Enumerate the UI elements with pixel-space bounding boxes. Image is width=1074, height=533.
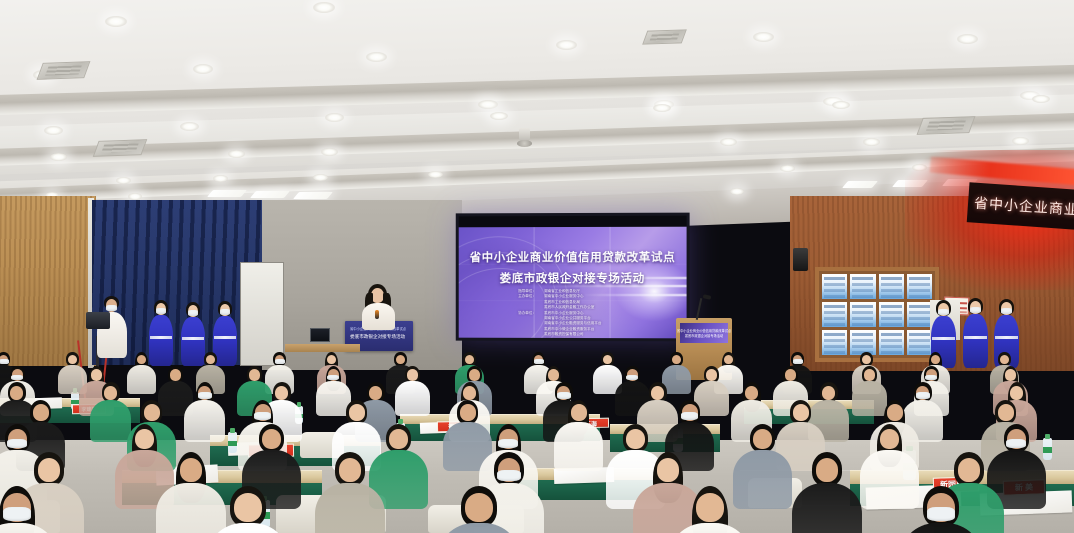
conference-hall-photo: 省中小企业商业价值 省中小企业商业价值信用贷款改革试点 娄底市政银企对接专场 bbox=[0, 0, 1074, 533]
head bbox=[822, 386, 835, 400]
face-mask bbox=[0, 359, 9, 364]
face-mask bbox=[327, 375, 339, 381]
head bbox=[696, 493, 723, 521]
video-camera-icon bbox=[86, 312, 110, 329]
ceiling-air-vent bbox=[917, 116, 976, 135]
poster-panel bbox=[879, 302, 904, 327]
ceiling-downlight bbox=[428, 171, 443, 178]
torso bbox=[437, 523, 521, 533]
ceiling-downlight bbox=[556, 40, 577, 50]
face-mask bbox=[156, 308, 166, 314]
ceiling-downlight bbox=[193, 64, 213, 74]
ceiling-downlight bbox=[50, 153, 67, 161]
stage-table bbox=[285, 344, 360, 352]
head bbox=[180, 458, 203, 482]
led-wall-subtext: 指导单位：湖南省工业和信息化厅主办单位：湖南省中小企业服务中心娄底市工业和信息化… bbox=[518, 289, 648, 338]
ceiling-downlight bbox=[105, 16, 127, 27]
head bbox=[1010, 386, 1023, 400]
ceiling-downlight bbox=[128, 193, 142, 200]
led-wall-subtext-row: 娄底市信用信息服务中心 bbox=[518, 337, 648, 338]
head bbox=[249, 369, 260, 381]
torso bbox=[315, 483, 385, 533]
audience-member bbox=[668, 486, 752, 533]
face-mask bbox=[681, 412, 698, 420]
head bbox=[571, 404, 587, 421]
head bbox=[104, 386, 117, 400]
head bbox=[958, 458, 981, 482]
head bbox=[548, 369, 559, 381]
head bbox=[10, 386, 23, 400]
microphone-icon bbox=[703, 294, 712, 300]
poster-panel bbox=[907, 274, 932, 299]
led-wall-content: 省中小企业商业价值信用贷款改革试点 娄底市政银企对接专场活动 指导单位：湖南省工… bbox=[459, 227, 687, 339]
face-mask bbox=[557, 392, 571, 399]
face-mask bbox=[11, 375, 23, 381]
speaker-presenter bbox=[356, 284, 400, 330]
head bbox=[887, 404, 903, 421]
led-wall-title-block: 省中小企业商业价值信用贷款改革试点 娄底市政银企对接专场活动 bbox=[459, 249, 687, 286]
ceiling-downlight bbox=[325, 113, 344, 122]
torso bbox=[554, 422, 603, 471]
side-door[interactable] bbox=[240, 262, 284, 366]
face-mask bbox=[793, 359, 803, 364]
ceiling-downlight bbox=[653, 104, 671, 112]
ceiling-downlight bbox=[321, 148, 338, 156]
dress-belt bbox=[182, 337, 204, 340]
ceiling-downlight bbox=[213, 175, 228, 182]
face-mask bbox=[927, 507, 956, 521]
red-banner: 省中小企业商业价值 bbox=[967, 182, 1074, 230]
led-video-wall[interactable]: 省中小企业商业价值信用贷款改革试点 娄底市政银企对接专场活动 指导单位：湖南省工… bbox=[456, 213, 690, 342]
face-mask bbox=[498, 439, 518, 449]
face-mask bbox=[970, 307, 981, 313]
dress-belt bbox=[995, 336, 1018, 339]
head bbox=[389, 429, 408, 449]
stage-monitor bbox=[310, 328, 330, 342]
water-bottle bbox=[228, 432, 237, 453]
ceiling-downlight bbox=[863, 138, 880, 146]
audience-member bbox=[554, 400, 603, 473]
head bbox=[864, 369, 875, 381]
ceiling-strip-light bbox=[250, 191, 290, 198]
ceiling-strip-light bbox=[207, 190, 247, 197]
head bbox=[1005, 369, 1016, 381]
head bbox=[880, 429, 899, 449]
head bbox=[706, 369, 717, 381]
head bbox=[407, 369, 418, 381]
poster-panel bbox=[822, 274, 847, 299]
head bbox=[91, 369, 102, 381]
head bbox=[745, 386, 758, 400]
ceiling-downlight bbox=[180, 122, 199, 131]
ceiling-air-vent bbox=[93, 139, 148, 157]
ceiling-downlight bbox=[478, 100, 498, 109]
head bbox=[816, 458, 839, 482]
face-mask bbox=[938, 309, 949, 315]
face-mask bbox=[497, 470, 521, 481]
ceiling-downlight bbox=[366, 52, 387, 62]
dress-belt bbox=[964, 336, 987, 339]
face-mask bbox=[1001, 308, 1012, 314]
ceiling-strip-light bbox=[293, 192, 333, 199]
wall-speaker bbox=[793, 248, 808, 271]
head bbox=[339, 458, 362, 482]
podium-left-line-2: 娄底市政银企对接专场活动 bbox=[350, 334, 405, 340]
ceiling-downlight bbox=[780, 165, 795, 172]
head bbox=[38, 458, 61, 482]
ceiling-downlight bbox=[730, 188, 744, 195]
poster-panel bbox=[907, 302, 932, 327]
torso bbox=[668, 523, 752, 533]
head bbox=[465, 493, 492, 521]
dress bbox=[963, 314, 988, 368]
face-mask bbox=[925, 375, 937, 381]
led-wall-subtext-label bbox=[518, 337, 540, 338]
red-banner-text: 省中小企业商业价值 bbox=[973, 193, 1074, 222]
face-mask bbox=[220, 309, 230, 315]
ceiling-strip-light bbox=[842, 181, 878, 188]
podium-right-display: 省中小企业商业价值信用贷款改革试点 娄底市政银企对接专场活动 bbox=[680, 323, 728, 343]
podium-right-line-2: 娄底市政银企对接专场活动 bbox=[685, 333, 723, 338]
ceiling-air-vent bbox=[642, 29, 687, 44]
hostess-right-2 bbox=[962, 298, 989, 368]
face-mask bbox=[916, 392, 930, 399]
audience-member bbox=[206, 486, 290, 533]
handheld-microphone-icon bbox=[375, 310, 379, 319]
microphone-stem bbox=[696, 298, 703, 320]
face-mask bbox=[1006, 439, 1026, 449]
led-wall-title-line-1: 省中小企业商业价值信用贷款改革试点 bbox=[459, 249, 687, 265]
head bbox=[785, 369, 796, 381]
torso bbox=[899, 523, 983, 533]
head bbox=[460, 404, 476, 421]
ceiling-air-vent bbox=[37, 61, 91, 80]
ceiling-downlight bbox=[832, 101, 850, 109]
head bbox=[651, 386, 664, 400]
audience-member bbox=[315, 452, 385, 533]
audience-member bbox=[0, 486, 59, 533]
head bbox=[349, 404, 365, 421]
face-mask bbox=[275, 359, 285, 364]
ceiling-downlight bbox=[490, 112, 508, 120]
ceiling-downlight bbox=[753, 32, 774, 42]
face-mask bbox=[7, 439, 27, 449]
led-wall-subtext-value: 娄底市信用信息服务中心 bbox=[544, 338, 583, 339]
dress-belt bbox=[214, 336, 236, 339]
torso bbox=[184, 400, 225, 441]
head bbox=[170, 369, 181, 381]
dress-belt bbox=[150, 336, 172, 339]
ceiling-downlight bbox=[44, 126, 63, 135]
head bbox=[463, 386, 476, 400]
ceiling-downlight bbox=[1012, 137, 1029, 145]
face-mask bbox=[106, 305, 117, 311]
head bbox=[469, 369, 480, 381]
poster-panel bbox=[850, 302, 875, 327]
head bbox=[234, 493, 261, 521]
audience-member bbox=[437, 486, 521, 533]
ceiling-downlight bbox=[116, 177, 131, 184]
torso bbox=[0, 523, 59, 533]
head bbox=[998, 404, 1014, 421]
torso bbox=[206, 523, 290, 533]
poster-panel bbox=[850, 274, 875, 299]
poster-panel bbox=[879, 330, 904, 355]
head bbox=[793, 404, 809, 421]
face-mask bbox=[534, 359, 544, 364]
poster-panel bbox=[879, 274, 904, 299]
ceiling-downlight bbox=[313, 174, 328, 181]
wall-wood-panel-left bbox=[0, 196, 96, 366]
head bbox=[369, 386, 382, 400]
torso bbox=[792, 483, 862, 533]
face-mask bbox=[198, 392, 212, 399]
head bbox=[135, 429, 154, 449]
ceiling-downlight bbox=[1032, 95, 1050, 103]
poster-panel bbox=[822, 302, 847, 327]
audience-member bbox=[792, 452, 862, 533]
led-wall-top-bezel bbox=[459, 216, 687, 228]
torso bbox=[395, 381, 430, 416]
ceiling-downlight bbox=[957, 34, 978, 44]
audience-member bbox=[395, 366, 430, 417]
face-mask bbox=[188, 310, 198, 316]
head bbox=[144, 404, 160, 421]
head bbox=[33, 404, 49, 421]
ceiling-downlight bbox=[720, 138, 737, 146]
ceiling-downlight bbox=[228, 150, 245, 158]
poster-wall bbox=[815, 267, 939, 362]
ceiling-downlight bbox=[313, 2, 335, 13]
head bbox=[626, 429, 645, 449]
face-mask bbox=[3, 507, 32, 521]
poster-panel bbox=[822, 330, 847, 355]
face-mask bbox=[254, 412, 271, 420]
audience-member bbox=[899, 486, 983, 533]
led-wall-title-line-2: 娄底市政银企对接专场活动 bbox=[459, 270, 687, 286]
dress-belt bbox=[932, 337, 955, 340]
head bbox=[657, 458, 680, 482]
face-mask bbox=[626, 375, 638, 381]
fire-sprinkler-icon bbox=[519, 128, 530, 143]
head bbox=[275, 386, 288, 400]
head bbox=[262, 429, 281, 449]
audience-member bbox=[184, 382, 225, 443]
head bbox=[753, 429, 772, 449]
